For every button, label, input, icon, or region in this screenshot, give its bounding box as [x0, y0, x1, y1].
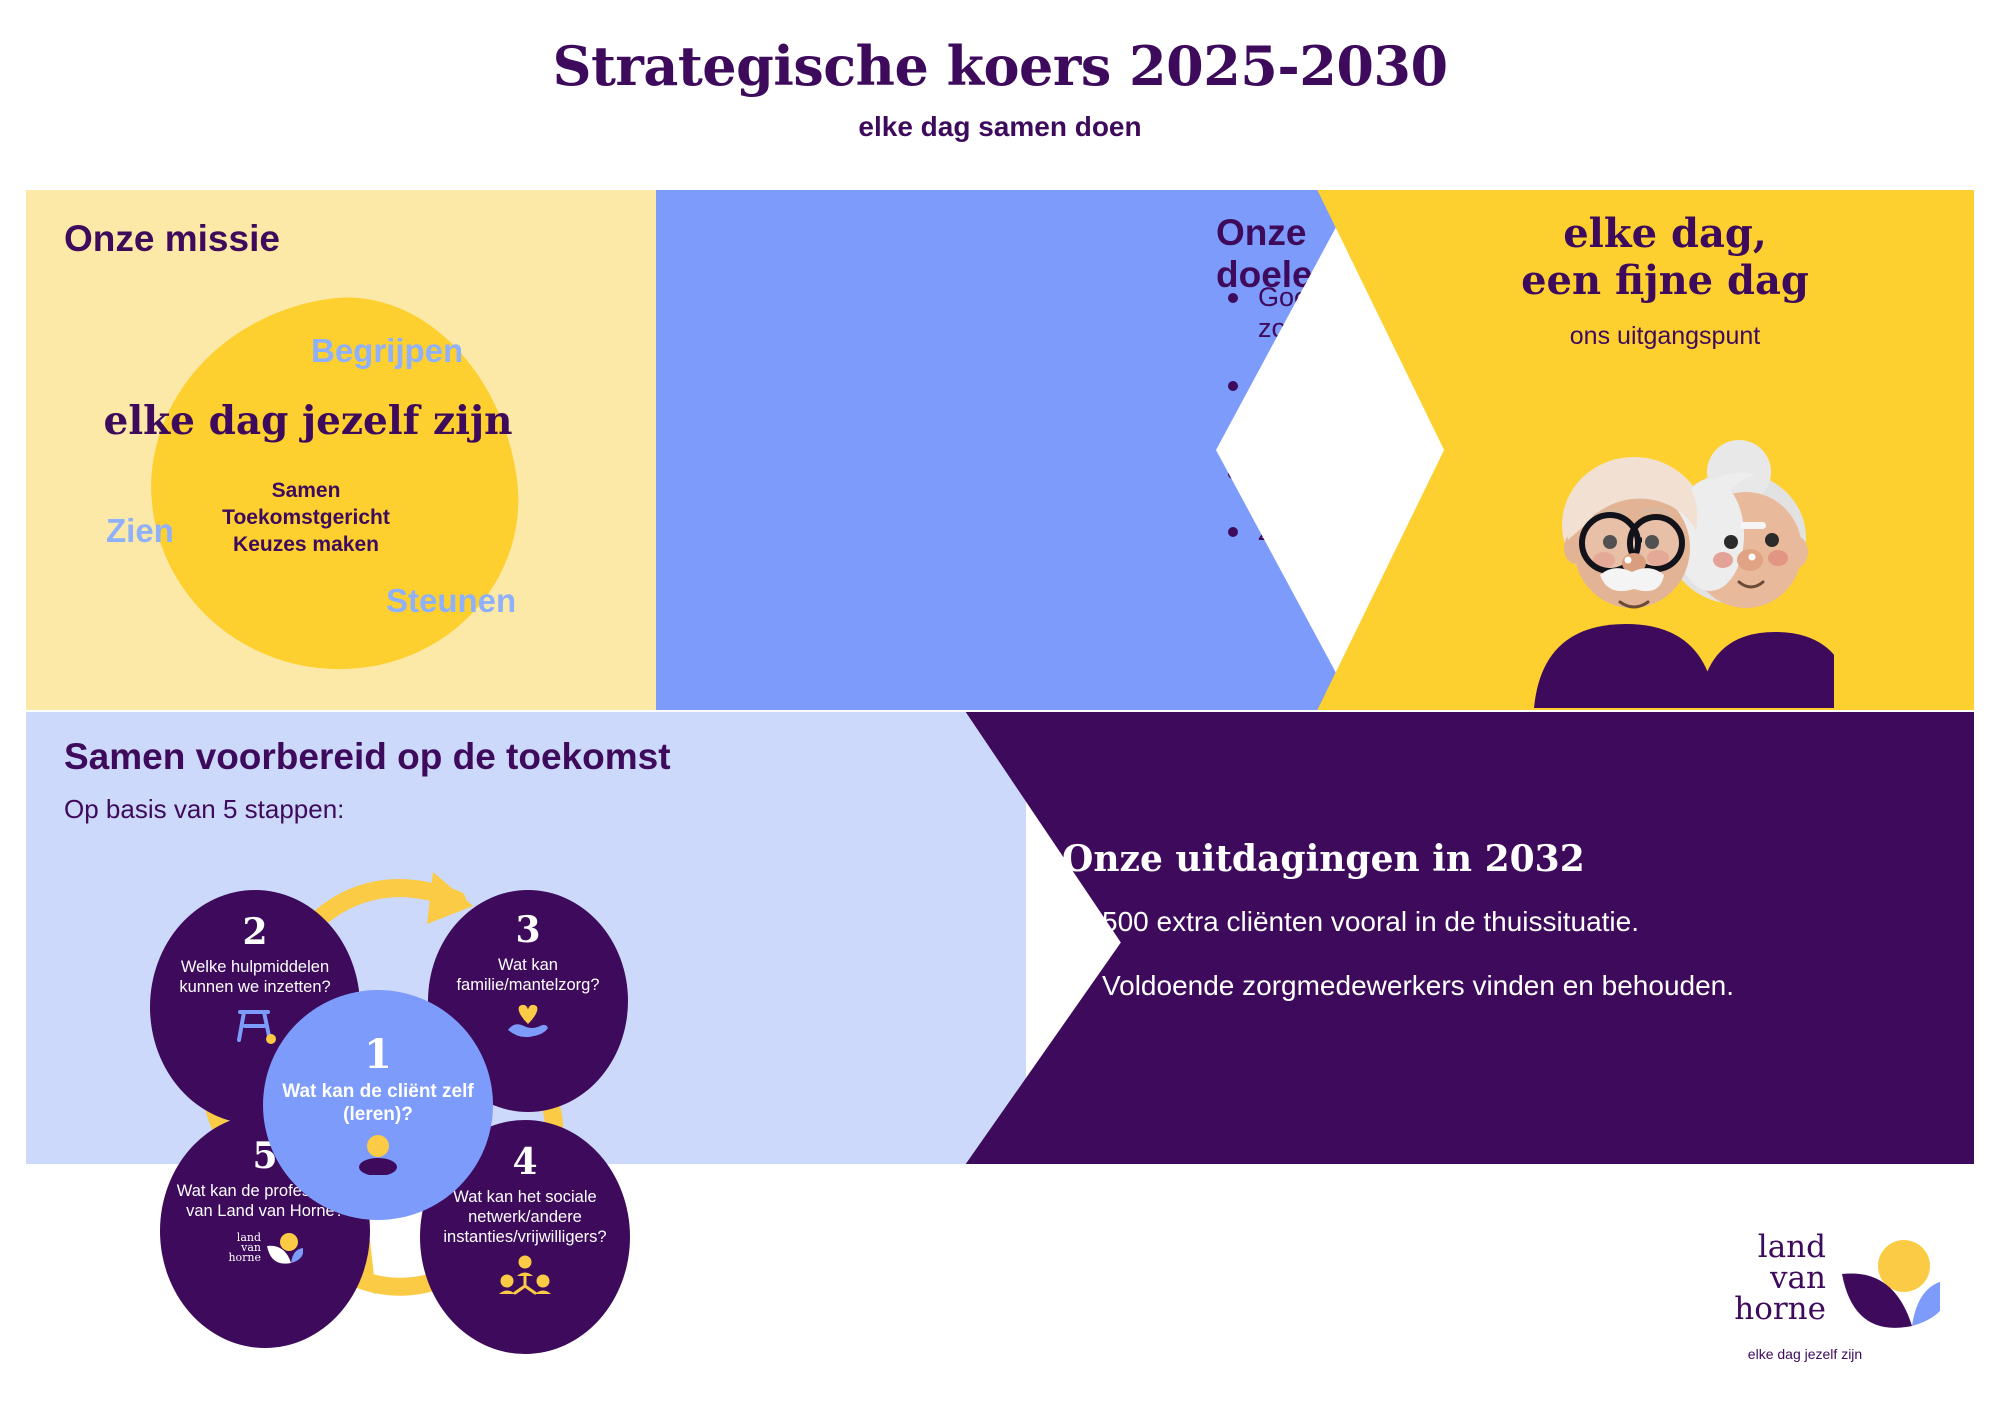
step-circle-1[interactable]: 1 Wat kan de cliënt zelf (leren)?: [263, 990, 493, 1220]
people-group-icon: [497, 1255, 553, 1295]
challenge-item: Voldoende zorgmedewerkers vinden en beho…: [1062, 970, 1862, 1002]
svg-text:horne: horne: [228, 1251, 261, 1264]
step-number: 4: [512, 1144, 537, 1180]
top-band: Onze missie Begrijpen Zien Steunen elke …: [26, 190, 1974, 710]
step-text: Welke hulpmiddelen kunnen we inzetten?: [150, 958, 360, 998]
logo-line-1: land: [1700, 1232, 1826, 1263]
motto-title: elke dag, een fijne dag: [1356, 210, 1974, 304]
person-icon: [355, 1135, 401, 1175]
page-title: Strategische koers 2025-2030: [0, 38, 2000, 95]
logo-wordmark: land van horne: [1700, 1232, 1826, 1325]
motto-text-block: elke dag, een fijne dag ons uitgangspunt: [1356, 210, 1974, 351]
step-number: 2: [242, 914, 267, 950]
step-number: 3: [515, 912, 540, 948]
goals-panel: Onze doelen Goede, veilige en passende z…: [656, 190, 1356, 710]
step-text: Wat kan het sociale netwerk/andere insta…: [420, 1188, 630, 1247]
step-number: 1: [364, 1035, 392, 1075]
mission-word-begrijpen: Begrijpen: [311, 332, 463, 370]
steps-diagram: 2 Welke hulpmiddelen kunnen we inzetten?…: [150, 890, 790, 1380]
challenge-item: 500 extra cliënten vooral in de thuissit…: [1062, 906, 1862, 938]
challenges-heading: Onze uitdagingen in 2032: [1062, 838, 1585, 880]
motto-title-line1: elke dag,: [1563, 210, 1767, 257]
heart-in-hand-icon: [504, 1004, 552, 1042]
mission-value-1: Samen: [126, 478, 486, 505]
land-van-horne-logo: land van horne elke dag jezelf zijn: [1700, 1228, 1940, 1368]
mission-value-3: Keuzes maken: [126, 532, 486, 559]
mission-word-steunen: Steunen: [386, 582, 516, 620]
logo-mark-icon: [1830, 1234, 1940, 1344]
step-text: Wat kan de cliënt zelf (leren)?: [263, 1081, 493, 1127]
mission-values: Samen Toekomstgericht Keuzes maken: [126, 478, 486, 559]
mission-panel: Onze missie Begrijpen Zien Steunen elke …: [26, 190, 666, 710]
mission-value-2: Toekomstgericht: [126, 505, 486, 532]
motto-title-line2: een fijne dag: [1521, 257, 1809, 304]
logo-tagline: elke dag jezelf zijn: [1690, 1346, 1920, 1362]
mission-claim: elke dag jezelf zijn: [88, 398, 528, 444]
motto-subtitle: ons uitgangspunt: [1356, 322, 1974, 351]
step-text: Wat kan familie/mantelzorg?: [428, 956, 628, 996]
infographic-root: Strategische koers 2025-2030 elke dag sa…: [0, 0, 2000, 1414]
logo-line-3: horne: [1700, 1294, 1826, 1325]
future-heading: Samen voorbereid op de toekomst: [64, 736, 671, 778]
land-van-horne-logo-icon: land van horne: [227, 1230, 303, 1264]
logo-line-2: van: [1700, 1263, 1826, 1294]
mission-heading: Onze missie: [64, 218, 280, 260]
page-subtitle: elke dag samen doen: [0, 111, 2000, 143]
elderly-couple-icon: [1524, 430, 1834, 710]
page-header: Strategische koers 2025-2030 elke dag sa…: [0, 38, 2000, 143]
walker-icon: [232, 1006, 278, 1046]
challenges-list: 500 extra cliënten vooral in de thuissit…: [1062, 906, 1862, 1034]
future-subheading: Op basis van 5 stappen:: [64, 794, 344, 825]
